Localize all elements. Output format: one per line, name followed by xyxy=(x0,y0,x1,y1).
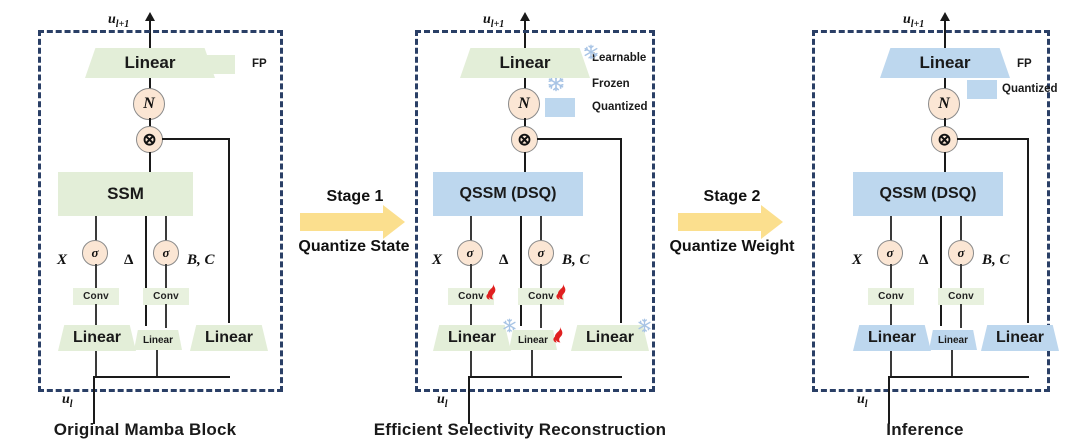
legend-swatch-quantized-inference xyxy=(967,80,997,99)
legend-label-learnable-stage1: Learnable xyxy=(592,52,646,64)
branch-label-bc-inference: B, C xyxy=(982,252,1010,269)
top-linear-label-inference: Linear xyxy=(919,53,970,73)
input-label-inference: ul xyxy=(857,392,868,410)
branch-label-delta-stage1: Δ xyxy=(499,252,508,269)
wire-linear-delta-down-stage1 xyxy=(531,350,533,377)
conv-left-label-inference: Conv xyxy=(878,291,904,302)
top-linear-label-stage1: Linear xyxy=(499,53,550,73)
sigma-left-label-stage1: σ xyxy=(466,245,473,261)
top-linear-stage1: Linear xyxy=(460,48,590,78)
sigma-left-stage1: σ xyxy=(457,240,483,266)
skip-wire-top-original xyxy=(162,138,230,140)
linear-bc-inference: Linear xyxy=(981,325,1059,351)
output-label-stage1: ul+1 xyxy=(483,12,504,30)
sigma-right-original: σ xyxy=(153,240,179,266)
branch-label-x-original: X xyxy=(57,252,67,269)
wire-conv-left-down-stage1 xyxy=(470,304,472,328)
linear-delta-stage1: Linear xyxy=(509,330,557,350)
panel-original-mamba-block: ul+1 FP Linear N ⊗ SSM σ σ X Δ B, C Conv xyxy=(0,0,300,446)
skip-wire-vert-original xyxy=(228,138,230,323)
stage-2-title: Stage 2 xyxy=(672,188,792,206)
caption-original: Original Mamba Block xyxy=(0,420,290,440)
skip-wire-vert-inference xyxy=(1027,138,1029,323)
wire-x-branch-stage1 xyxy=(470,216,472,243)
skip-wire-top-stage1 xyxy=(537,138,622,140)
conv-right-inference: Conv xyxy=(938,288,984,305)
wire-delta-branch-stage1 xyxy=(520,216,522,326)
stage-1-arrow-body xyxy=(300,213,384,231)
caption-inference: Inference xyxy=(825,420,1025,440)
linear-delta-label-stage1: Linear xyxy=(518,335,548,346)
wire-linear-x-down-original xyxy=(95,351,97,377)
wire-bottom-bus-stage1 xyxy=(468,376,622,378)
linear-x-stage1: Linear xyxy=(433,325,511,351)
linear-bc-label-original: Linear xyxy=(205,329,253,347)
input-label-stage1: ul xyxy=(437,392,448,410)
wire-bc-branch-stage1 xyxy=(540,216,542,243)
conv-left-label-original: Conv xyxy=(83,291,109,302)
wire-bottom-bus-original xyxy=(93,376,230,378)
output-label-original: ul+1 xyxy=(108,12,129,30)
wire-bc-branch-original xyxy=(165,216,167,243)
branch-label-bc-stage1: B, C xyxy=(562,252,590,269)
core-block-inference: QSSM (DSQ) xyxy=(853,172,1003,216)
conv-left-original: Conv xyxy=(73,288,119,305)
mult-circle-label-original: ⊗ xyxy=(142,130,156,150)
sigma-left-label-inference: σ xyxy=(886,245,893,261)
wire-x-branch-inference xyxy=(890,216,892,243)
wire-conv-right-down-original xyxy=(165,304,167,328)
core-block-label-inference: QSSM (DSQ) xyxy=(880,185,977,203)
wire-mult-to-core-stage1 xyxy=(524,152,526,174)
linear-bc-original: Linear xyxy=(190,325,268,351)
linear-x-label-inference: Linear xyxy=(868,329,916,347)
wire-bc-branch-inference xyxy=(960,216,962,243)
sigma-right-label-inference: σ xyxy=(957,245,964,261)
mult-circle-stage1: ⊗ xyxy=(511,126,538,153)
legend-label-fp-inference: FP xyxy=(1017,58,1032,70)
flame-icon-linear-delta-stage1 xyxy=(552,326,566,344)
sigma-right-label-original: σ xyxy=(162,245,169,261)
wire-conv-right-down-stage1 xyxy=(540,304,542,328)
mult-circle-inference: ⊗ xyxy=(931,126,958,153)
panel-inference: ul+1 FP Quantized Linear N ⊗ QSSM (DSQ) … xyxy=(775,0,1080,446)
wire-linear-x-down-stage1 xyxy=(470,351,472,377)
wire-input-original xyxy=(93,376,95,424)
mult-circle-label-stage1: ⊗ xyxy=(517,130,531,150)
legend-label-fp-original: FP xyxy=(252,58,267,70)
top-linear-inference: Linear xyxy=(880,48,1010,78)
sigma-right-stage1: σ xyxy=(528,240,554,266)
wire-mult-to-ssm-original xyxy=(149,152,151,174)
sigma-right-inference: σ xyxy=(948,240,974,266)
snowflake-icon-linear-bc-stage1 xyxy=(637,318,652,333)
wire-delta-branch-original xyxy=(145,216,147,326)
linear-delta-label-original: Linear xyxy=(143,335,173,346)
wire-x-branch-original xyxy=(95,216,97,243)
wire-bottom-bus-inference xyxy=(888,376,1029,378)
panel-efficient-selectivity-reconstruction: ul+1 Learnable Frozen Quantized Linear xyxy=(375,0,675,446)
top-linear-original: Linear xyxy=(85,48,215,78)
conv-right-original: Conv xyxy=(143,288,189,305)
legend-label-frozen-stage1: Frozen xyxy=(592,78,630,90)
flame-icon-conv-left-stage1 xyxy=(485,283,499,301)
branch-label-delta-inference: Δ xyxy=(919,252,928,269)
wire-input-stage1 xyxy=(468,376,470,424)
norm-circle-label-original: N xyxy=(143,95,155,113)
legend-label-quantized-stage1: Quantized xyxy=(592,101,648,113)
norm-circle-inference: N xyxy=(928,88,960,120)
input-label-original: ul xyxy=(62,392,73,410)
wire-delta-branch-inference xyxy=(940,216,942,326)
wire-conv-right-down-inference xyxy=(960,304,962,328)
conv-right-label-stage1: Conv xyxy=(528,291,554,302)
stage-2-arrow-body xyxy=(678,213,762,231)
linear-x-label-stage1: Linear xyxy=(448,329,496,347)
core-block-stage1: QSSM (DSQ) xyxy=(433,172,583,216)
conv-left-label-stage1: Conv xyxy=(458,291,484,302)
sigma-left-label-original: σ xyxy=(91,245,98,261)
linear-x-inference: Linear xyxy=(853,325,931,351)
legend-label-quantized-inference: Quantized xyxy=(1002,83,1058,95)
snowflake-icon-top-linear-stage1 xyxy=(583,44,599,60)
norm-circle-label-stage1: N xyxy=(518,95,530,113)
core-block-label-stage1: QSSM (DSQ) xyxy=(460,185,557,203)
branch-label-x-stage1: X xyxy=(432,252,442,269)
conv-right-label-original: Conv xyxy=(153,291,179,302)
top-linear-label-original: Linear xyxy=(124,53,175,73)
sigma-left-inference: σ xyxy=(877,240,903,266)
skip-wire-top-inference xyxy=(957,138,1029,140)
sigma-left-original: σ xyxy=(82,240,108,266)
wire-input-inference xyxy=(888,376,890,424)
sigma-right-label-stage1: σ xyxy=(537,245,544,261)
norm-circle-stage1: N xyxy=(508,88,540,120)
core-block-label-original: SSM xyxy=(107,184,144,204)
conv-right-label-inference: Conv xyxy=(948,291,974,302)
legend-swatch-quantized-stage1 xyxy=(545,98,575,117)
linear-x-label-original: Linear xyxy=(73,329,121,347)
wire-conv-left-down-inference xyxy=(890,304,892,328)
norm-circle-original: N xyxy=(133,88,165,120)
mult-circle-label-inference: ⊗ xyxy=(937,130,951,150)
linear-delta-label-inference: Linear xyxy=(938,335,968,346)
norm-circle-label-inference: N xyxy=(938,95,950,113)
core-block-original: SSM xyxy=(58,172,193,216)
wire-linear-x-down-inference xyxy=(890,351,892,377)
linear-bc-label-stage1: Linear xyxy=(586,329,634,347)
linear-x-original: Linear xyxy=(58,325,136,351)
wire-conv-left-down-original xyxy=(95,304,97,328)
wire-mult-to-core-inference xyxy=(944,152,946,174)
conv-left-inference: Conv xyxy=(868,288,914,305)
linear-bc-label-inference: Linear xyxy=(996,329,1044,347)
mult-circle-original: ⊗ xyxy=(136,126,163,153)
linear-delta-inference: Linear xyxy=(929,330,977,350)
branch-label-bc-original: B, C xyxy=(187,252,215,269)
caption-stage1: Efficient Selectivity Reconstruction xyxy=(340,420,700,440)
wire-linear-delta-down-original xyxy=(156,350,158,377)
output-label-inference: ul+1 xyxy=(903,12,924,30)
branch-label-x-inference: X xyxy=(852,252,862,269)
wire-linear-delta-down-inference xyxy=(951,350,953,377)
skip-wire-vert-stage1 xyxy=(620,138,622,323)
flame-icon-conv-right-stage1 xyxy=(555,283,569,301)
linear-delta-original: Linear xyxy=(134,330,182,350)
branch-label-delta-original: Δ xyxy=(124,252,133,269)
